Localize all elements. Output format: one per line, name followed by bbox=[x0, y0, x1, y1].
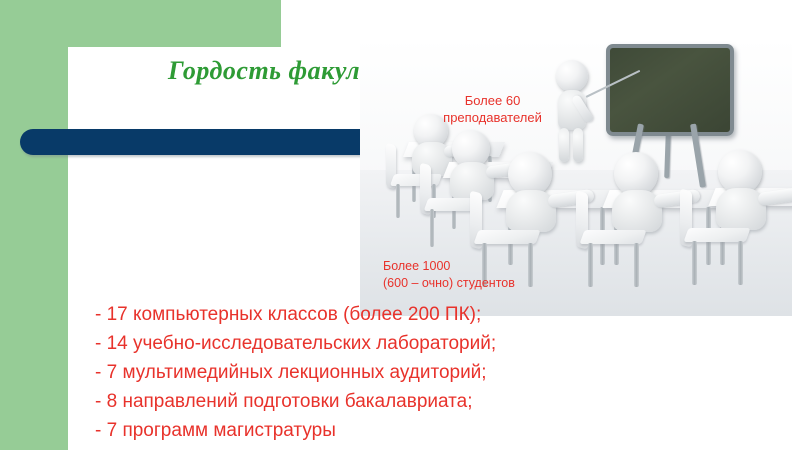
chalkboard-icon bbox=[606, 44, 734, 136]
teacher-head-icon bbox=[556, 60, 588, 92]
list-item: - 17 компьютерных классов (более 200 ПК)… bbox=[95, 300, 755, 329]
chair-seat-5 bbox=[683, 228, 750, 242]
chair-seat-4 bbox=[579, 230, 646, 244]
chair-leg-1a bbox=[396, 184, 400, 218]
students-count-label: Более 1000 (600 – очно) студентов bbox=[383, 258, 598, 292]
list-item: - 8 направлений подготовки бакалавриата; bbox=[95, 387, 755, 416]
presentation-slide: Гордость факультета bbox=[0, 0, 800, 450]
chair-leg-5b bbox=[738, 241, 743, 285]
facts-list: - 17 компьютерных классов (более 200 ПК)… bbox=[95, 300, 755, 445]
list-item: - 14 учебно-исследовательских лаборатори… bbox=[95, 329, 755, 358]
chair-leg-5a bbox=[692, 241, 697, 285]
chair-leg-2a bbox=[430, 209, 434, 247]
teachers-count-label: Более 60 преподавателей bbox=[415, 92, 570, 126]
green-left-band bbox=[0, 0, 68, 450]
list-item: - 7 программ магистратуры bbox=[95, 416, 755, 445]
teacher-leg-left-icon bbox=[559, 128, 569, 162]
teacher-leg-right-icon bbox=[573, 128, 583, 162]
green-top-band bbox=[0, 0, 281, 47]
chair-leg-4b bbox=[634, 243, 639, 287]
navy-accent-bar bbox=[20, 129, 377, 155]
list-item: - 7 мультимедийных лекционных аудиторий; bbox=[95, 358, 755, 387]
chair-seat-3 bbox=[473, 230, 540, 244]
